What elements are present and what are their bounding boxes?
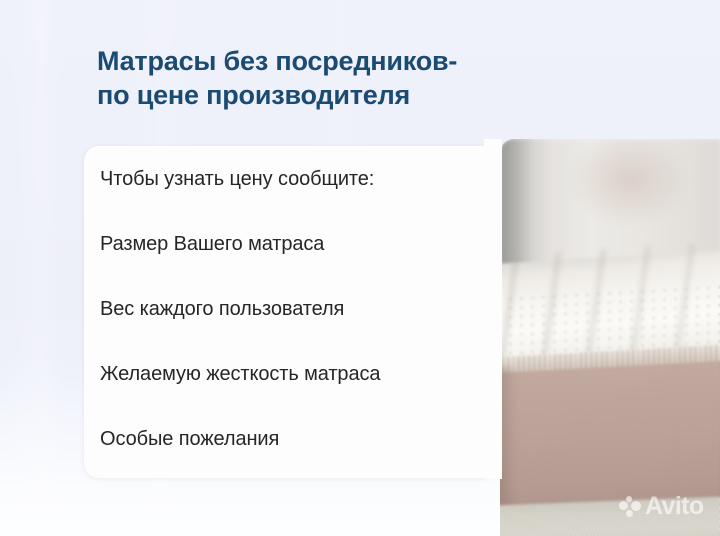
requirements-card: Чтобы узнать цену сообщите: Размер Вашег…	[84, 146, 497, 478]
list-item: Чтобы узнать цену сообщите:	[100, 167, 493, 191]
avito-dots-icon	[619, 496, 641, 518]
page-title: Матрасы без посредников- по цене произво…	[97, 44, 517, 112]
list-item: Вес каждого пользователя	[100, 297, 493, 321]
ad-image-canvas: Матрасы без посредников- по цене произво…	[0, 0, 720, 536]
mattress-photo	[500, 139, 720, 536]
avito-watermark: Avito	[619, 494, 704, 519]
list-item: Особые пожелания	[100, 427, 493, 451]
list-item: Желаемую жесткость матраса	[100, 362, 493, 386]
list-item: Размер Вашего матраса	[100, 232, 493, 256]
card-photo-notch	[484, 139, 502, 479]
avito-wordmark: Avito	[645, 494, 704, 519]
requirements-list: Чтобы узнать цену сообщите: Размер Вашег…	[100, 167, 493, 451]
mattress-base-edge	[500, 366, 518, 517]
